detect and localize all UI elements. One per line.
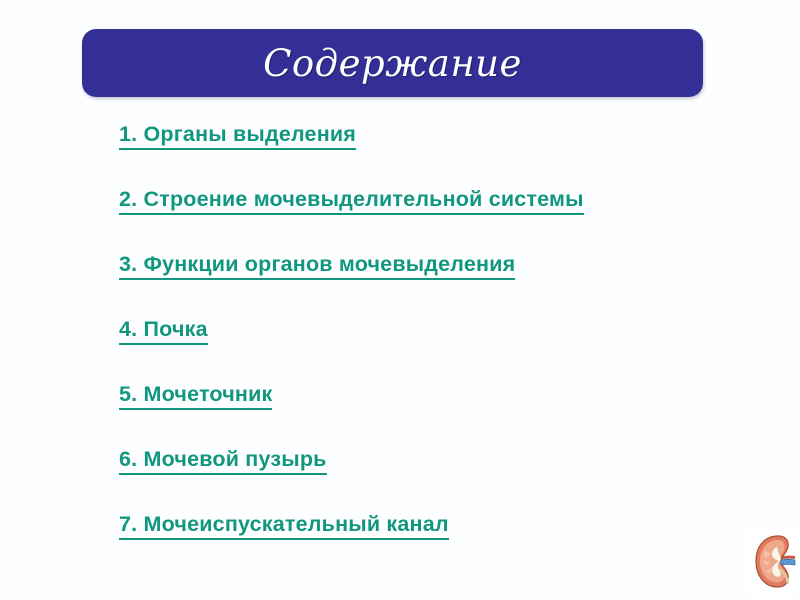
contents-link-2[interactable]: 2. Строение мочевыделительной системы — [119, 187, 584, 215]
slide-root: Содержание 1. Органы выделения 2. Строен… — [0, 0, 800, 600]
contents-link-5[interactable]: 5. Мочеточник — [119, 382, 272, 410]
list-item: 4. Почка — [119, 317, 759, 382]
contents-link-6[interactable]: 6. Мочевой пузырь — [119, 447, 327, 475]
slide-title-banner: Содержание — [82, 29, 703, 97]
kidney-illustration — [750, 530, 796, 594]
list-item: 6. Мочевой пузырь — [119, 447, 759, 512]
contents-link-1[interactable]: 1. Органы выделения — [119, 122, 356, 150]
kidney-cross-section-icon — [750, 530, 796, 594]
list-item: 1. Органы выделения — [119, 122, 759, 187]
contents-link-7[interactable]: 7. Мочеиспускательный канал — [119, 512, 449, 540]
page-title: Содержание — [263, 45, 522, 82]
list-item: 3. Функции органов мочевыделения — [119, 252, 759, 317]
contents-link-3[interactable]: 3. Функции органов мочевыделения — [119, 252, 515, 280]
table-of-contents: 1. Органы выделения 2. Строение мочевыде… — [119, 122, 759, 577]
contents-link-4[interactable]: 4. Почка — [119, 317, 208, 345]
list-item: 5. Мочеточник — [119, 382, 759, 447]
list-item: 7. Мочеиспускательный канал — [119, 512, 759, 577]
list-item: 2. Строение мочевыделительной системы — [119, 187, 759, 252]
